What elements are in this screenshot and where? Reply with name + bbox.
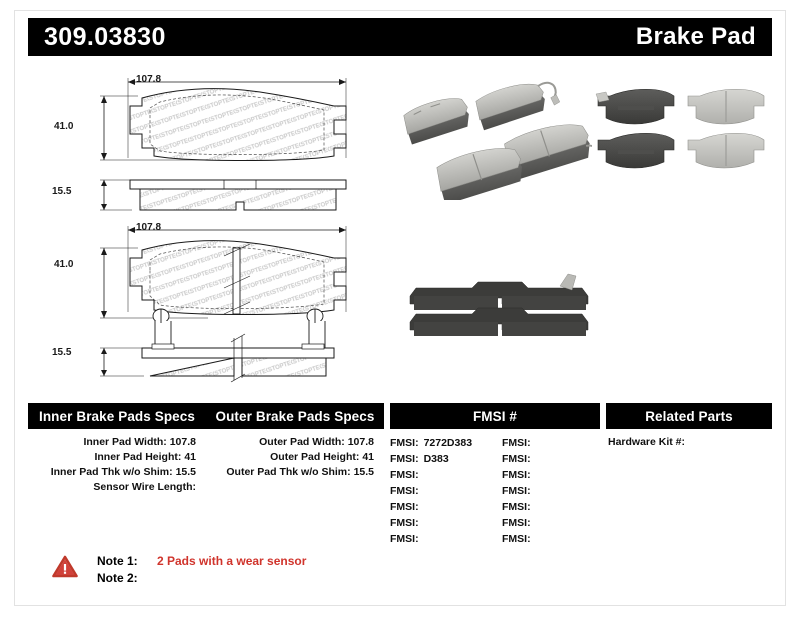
specifications-table: Inner Brake Pads Specs Outer Brake Pads … (28, 403, 772, 543)
fmsi-row: FMSI: (390, 499, 494, 515)
photo-pads-angled-group (402, 80, 592, 200)
column-header-fmsi: FMSI # (390, 409, 600, 424)
spec-sheet-page: 309.03830 Brake Pad STOPTECH (0, 0, 800, 619)
fmsi-label: FMSI: (390, 451, 419, 467)
spec-row: Inner Pad Width: 107.8 (28, 435, 206, 450)
note-value: 2 Pads with a wear sensor (149, 553, 306, 570)
header-bar-related-parts: Related Parts (606, 403, 772, 429)
spec-value: 107.8 (170, 436, 196, 448)
inner-specs-column: Inner Pad Width: 107.8 Inner Pad Height:… (28, 435, 206, 495)
part-number: 309.03830 (44, 23, 166, 52)
photo-pads-flat-grid (592, 88, 772, 194)
spec-row: Inner Pad Thk w/o Shim: 15.5 (28, 465, 206, 480)
warning-triangle-icon (52, 555, 78, 578)
related-part-row: Hardware Kit #: (606, 435, 772, 450)
spec-row: Outer Pad Thk w/o Shim: 15.5 (206, 465, 384, 480)
fmsi-row: FMSI: (390, 531, 494, 547)
spec-row: Outer Pad Width: 107.8 (206, 435, 384, 450)
fmsi-label: FMSI: (390, 499, 419, 515)
related-parts-column: Hardware Kit #: (606, 435, 772, 450)
fmsi-label: FMSI: (390, 515, 419, 531)
spec-label: Sensor Wire Length: (93, 481, 196, 493)
fmsi-column-right: FMSI: FMSI: FMSI: FMSI: FMSI: FMSI: FMSI… (502, 435, 600, 547)
fmsi-label: FMSI: (390, 531, 419, 547)
fmsi-column-left: FMSI:7272D383 FMSI:D383 FMSI: FMSI: FMSI… (390, 435, 494, 547)
spec-label: Inner Pad Thk w/o Shim: (51, 466, 173, 478)
related-part-label: Hardware Kit #: (608, 436, 685, 448)
fmsi-row: FMSI: (502, 483, 600, 499)
fmsi-row: FMSI: (390, 467, 494, 483)
spec-value: 41 (184, 451, 196, 463)
notes-text-block: Note 1: 2 Pads with a wear sensor Note 2… (97, 553, 306, 587)
dimension-view2-thickness: 15.5 (52, 186, 71, 197)
spec-label: Inner Pad Width: (83, 436, 166, 448)
fmsi-label: FMSI: (502, 515, 531, 531)
fmsi-value: D383 (419, 451, 449, 467)
fmsi-label: FMSI: (502, 467, 531, 483)
dimension-view1-height: 41.0 (54, 121, 73, 132)
fmsi-label: FMSI: (502, 435, 531, 451)
column-header-outer-specs: Outer Brake Pads Specs (206, 409, 384, 424)
drawing-view-front-inner: STOPTECH (28, 62, 388, 172)
spec-label: Inner Pad Height: (94, 451, 181, 463)
fmsi-row: FMSI: (502, 467, 600, 483)
product-photos-panel (392, 62, 772, 392)
note-row: Note 1: 2 Pads with a wear sensor (97, 553, 306, 570)
fmsi-row: FMSI: (502, 531, 600, 547)
spec-label: Outer Pad Width: (259, 436, 345, 448)
note-label: Note 1: (97, 553, 149, 570)
fmsi-row: FMSI: (390, 483, 494, 499)
spec-value: 107.8 (348, 436, 374, 448)
spec-value: 15.5 (176, 466, 196, 478)
drawing-view-side-with-clips (28, 304, 388, 394)
spec-row: Outer Pad Height: 41 (206, 450, 384, 465)
header-bar-pad-specs: Inner Brake Pads Specs Outer Brake Pads … (28, 403, 384, 429)
fmsi-row: FMSI: (502, 515, 600, 531)
fmsi-label: FMSI: (502, 531, 531, 547)
fmsi-row: FMSI:7272D383 (390, 435, 494, 451)
fmsi-label: FMSI: (390, 483, 419, 499)
fmsi-row: FMSI: (502, 499, 600, 515)
spec-row: Sensor Wire Length: (28, 480, 206, 495)
spec-value: 41 (362, 451, 374, 463)
dimension-view3-width: 107.8 (136, 222, 161, 233)
header-bar-fmsi: FMSI # (390, 403, 600, 429)
fmsi-row: FMSI: (502, 435, 600, 451)
fmsi-label: FMSI: (502, 451, 531, 467)
dimension-view1-width: 107.8 (136, 74, 161, 85)
page-header: 309.03830 Brake Pad (28, 18, 772, 56)
spec-value: 15.5 (354, 466, 374, 478)
note-label: Note 2: (97, 570, 149, 587)
fmsi-value: 7272D383 (419, 435, 472, 451)
fmsi-row: FMSI: (390, 515, 494, 531)
fmsi-label: FMSI: (502, 483, 531, 499)
outer-specs-column: Outer Pad Width: 107.8 Outer Pad Height:… (206, 435, 384, 480)
fmsi-label: FMSI: (502, 499, 531, 515)
fmsi-row: FMSI: (502, 451, 600, 467)
spec-row: Inner Pad Height: 41 (28, 450, 206, 465)
dimension-view3-height: 41.0 (54, 259, 73, 270)
technical-drawings-panel: STOPTECH 107.8 41.0 (28, 62, 388, 392)
fmsi-row: FMSI:D383 (390, 451, 494, 467)
product-type-title: Brake Pad (636, 23, 756, 51)
spec-label: Outer Pad Height: (270, 451, 359, 463)
dimension-view4-thickness: 15.5 (52, 347, 71, 358)
column-header-inner-specs: Inner Brake Pads Specs (28, 409, 206, 424)
note-row: Note 2: (97, 570, 306, 587)
fmsi-label: FMSI: (390, 435, 419, 451)
fmsi-label: FMSI: (390, 467, 419, 483)
column-header-related-parts: Related Parts (606, 409, 772, 424)
photo-pads-edge-view (400, 260, 600, 360)
spec-label: Outer Pad Thk w/o Shim: (226, 466, 350, 478)
